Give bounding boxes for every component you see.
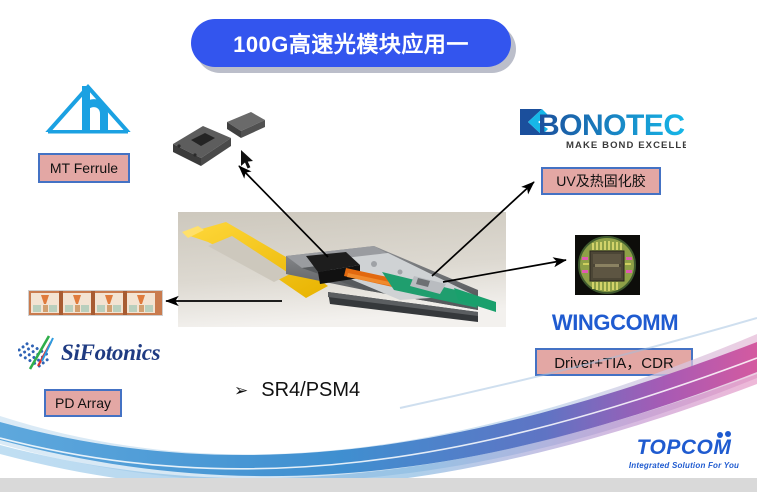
topcom-tagline: Integrated Solution For You: [625, 461, 743, 470]
bullet-text: SR4/PSM4: [261, 379, 360, 402]
sifotonics-wordmark: SiFotonics: [61, 340, 160, 366]
callout-pd-array[interactable]: PD Array: [44, 389, 122, 417]
optical-module-photo: [178, 212, 506, 327]
roof-h-logo-icon: [42, 82, 134, 140]
sifotonics-mark-icon: [18, 333, 58, 373]
topcom-dots-icon: [716, 431, 732, 439]
topcom-logo: TOPCOM Integrated Solution For You: [625, 437, 743, 477]
bullet-sr4-psm4: ➢ SR4/PSM4: [234, 379, 360, 402]
bottom-strip: [0, 478, 757, 492]
page-title: 100G高速光模块应用一: [233, 27, 469, 59]
pd-array-photo: [28, 290, 163, 316]
bullet-arrow-icon: ➢: [234, 382, 248, 399]
callout-driver-tia-cdr[interactable]: Driver+TIA，CDR: [535, 348, 693, 376]
sifotonics-logo: SiFotonics: [18, 332, 184, 374]
slide-title-pill: 100G高速光模块应用一: [191, 19, 511, 67]
bonotec-logo: BONOTEC MAKE BOND EXCELLENT: [518, 105, 686, 153]
topcom-wordmark: TOPCOM: [637, 437, 732, 458]
callout-uv-adhesive[interactable]: UV及热固化胶: [541, 167, 661, 195]
wingcomm-logo: WINGCOMM: [535, 310, 695, 336]
callout-label: Driver+TIA，CDR: [554, 352, 674, 373]
callout-label: UV及热固化胶: [556, 171, 645, 191]
callout-label: PD Array: [55, 395, 111, 411]
svg-text:BONOTEC: BONOTEC: [538, 109, 685, 142]
callout-label: MT Ferrule: [50, 160, 118, 176]
callout-mt-ferrule[interactable]: MT Ferrule: [38, 153, 130, 183]
driver-chip-photo: [575, 235, 640, 295]
svg-text:MAKE BOND EXCELLENT: MAKE BOND EXCELLENT: [566, 140, 686, 151]
slide-canvas: 100G高速光模块应用一 MT Ferrule: [0, 0, 757, 492]
mouse-cursor-icon: [241, 150, 255, 170]
